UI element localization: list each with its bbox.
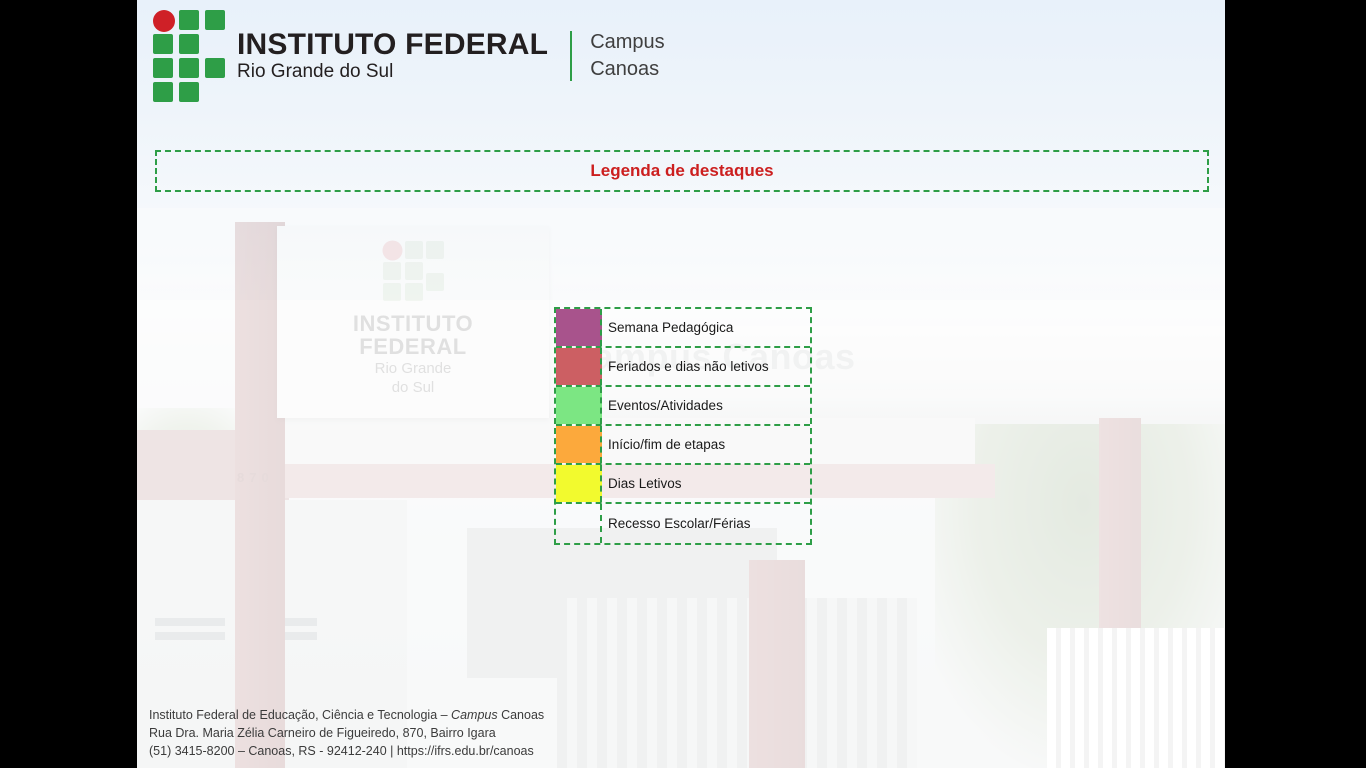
photo-window <box>155 632 225 640</box>
footer-line-3: (51) 3415-8200 – Canoas, RS - 92412-240 … <box>149 742 544 760</box>
legend-label: Recesso Escolar/Férias <box>602 504 810 543</box>
legend-row: Dias Letivos <box>556 465 810 504</box>
ifrs-logo-icon <box>153 10 227 102</box>
legend-row: Feriados e dias não letivos <box>556 348 810 387</box>
legend-label: Feriados e dias não letivos <box>602 348 810 385</box>
legend-color-swatch <box>556 426 602 463</box>
photo-sign-line2: FEDERAL <box>277 335 549 358</box>
footer-line-1: Instituto Federal de Educação, Ciência e… <box>149 706 544 724</box>
photo-pillar-right <box>749 560 805 768</box>
footer-line-1-em: Campus <box>451 708 498 722</box>
legend-color-swatch <box>556 465 602 502</box>
page-title: Legenda de destaques <box>590 161 773 181</box>
photo-sign-line4: do Sul <box>277 380 549 396</box>
photo-sign-logo-icon <box>382 240 444 311</box>
legend-color-swatch <box>556 387 602 424</box>
footer-line-1b: Canoas <box>498 708 545 722</box>
footer-line-2: Rua Dra. Maria Zélia Carneiro de Figueir… <box>149 724 544 742</box>
photo-gate <box>557 598 917 768</box>
legend-row: Início/fim de etapas <box>556 426 810 465</box>
photo-fence <box>1047 628 1225 768</box>
footer-line-1a: Instituto Federal de Educação, Ciência e… <box>149 708 451 722</box>
campus-name: Campus Canoas <box>590 29 664 83</box>
brand-header: INSTITUTO FEDERAL Rio Grande do Sul Camp… <box>153 10 665 102</box>
photo-sign-line3: Rio Grande <box>277 361 549 377</box>
legend-label: Dias Letivos <box>602 465 810 502</box>
legend-color-swatch <box>556 504 602 543</box>
photo-campus-sign: INSTITUTO FEDERAL Rio Grande do Sul <box>277 226 549 418</box>
pillarbox-left <box>0 0 137 768</box>
slide-stage: Campus Canoas 870 <box>0 0 1366 768</box>
photo-sign-line1: INSTITUTO <box>277 312 549 335</box>
footer-address: Instituto Federal de Educação, Ciência e… <box>149 706 544 760</box>
brand-divider <box>570 31 572 81</box>
photo-house-number: 870 <box>237 470 274 485</box>
pillarbox-right <box>1225 0 1366 768</box>
photo-window <box>155 618 225 626</box>
legend-color-swatch <box>556 348 602 385</box>
legend-row: Semana Pedagógica <box>556 309 810 348</box>
slide-content: Campus Canoas 870 <box>137 0 1225 768</box>
page-title-box: Legenda de destaques <box>155 150 1209 192</box>
legend-row: Eventos/Atividades <box>556 387 810 426</box>
campus-line-2: Canoas <box>590 56 664 83</box>
photo-sign-text: INSTITUTO FEDERAL Rio Grande do Sul <box>277 312 549 396</box>
brand-subtitle: Rio Grande do Sul <box>237 61 548 83</box>
legend-label: Semana Pedagógica <box>602 309 810 346</box>
legend-table: Semana Pedagógica Feriados e dias não le… <box>554 307 812 545</box>
legend-color-swatch <box>556 309 602 346</box>
brand-wordmark: INSTITUTO FEDERAL Rio Grande do Sul <box>237 29 548 83</box>
campus-line-1: Campus <box>590 29 664 56</box>
legend-label: Eventos/Atividades <box>602 387 810 424</box>
brand-name: INSTITUTO FEDERAL <box>237 29 548 61</box>
legend-row: Recesso Escolar/Férias <box>556 504 810 543</box>
legend-label: Início/fim de etapas <box>602 426 810 463</box>
